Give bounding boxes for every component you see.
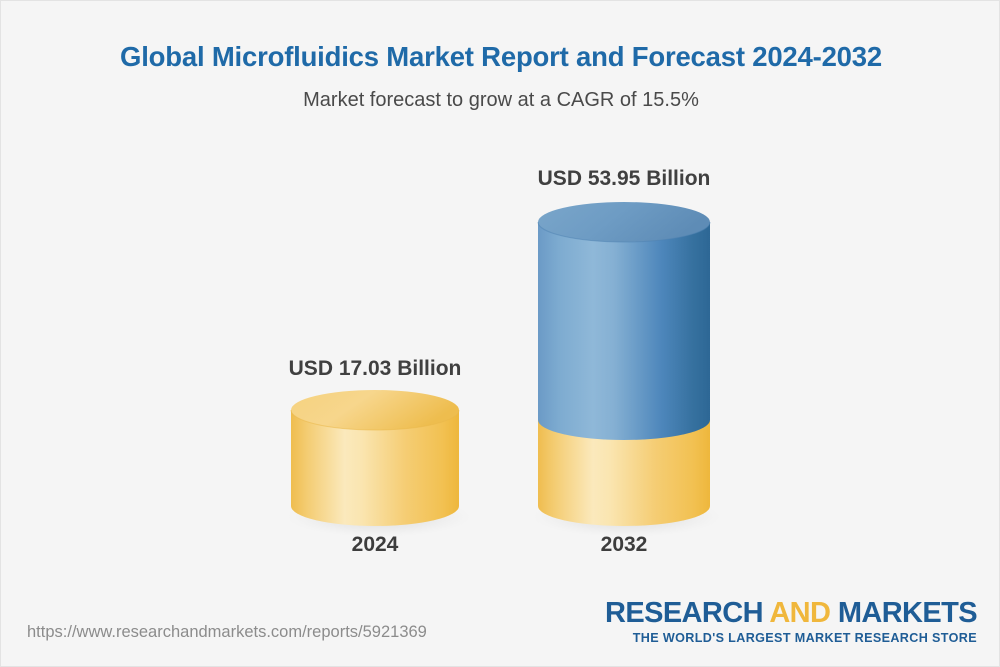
- category-label-2032: 2032: [524, 533, 724, 557]
- source-url[interactable]: https://www.researchandmarkets.com/repor…: [27, 623, 427, 642]
- category-label-2024: 2024: [275, 533, 475, 557]
- cylinder-bar-chart: [1, 1, 1000, 667]
- logo-wordmark: RESEARCH AND MARKETS: [605, 599, 977, 628]
- logo-tagline: THE WORLD'S LARGEST MARKET RESEARCH STOR…: [605, 632, 977, 645]
- bar-2032-segment-growth: [538, 222, 710, 440]
- research-and-markets-logo[interactable]: RESEARCH AND MARKETS THE WORLD'S LARGEST…: [605, 599, 977, 645]
- logo-word-markets: MARKETS: [838, 597, 977, 629]
- bar-2024: [287, 390, 471, 537]
- value-label-2032: USD 53.95 Billion: [524, 167, 724, 191]
- infographic-card: Global Microfluidics Market Report and F…: [0, 0, 1000, 667]
- value-label-2024: USD 17.03 Billion: [275, 357, 475, 381]
- logo-word-research: RESEARCH: [605, 597, 769, 629]
- bar-2032: [533, 202, 721, 537]
- logo-word-and: AND: [769, 597, 838, 629]
